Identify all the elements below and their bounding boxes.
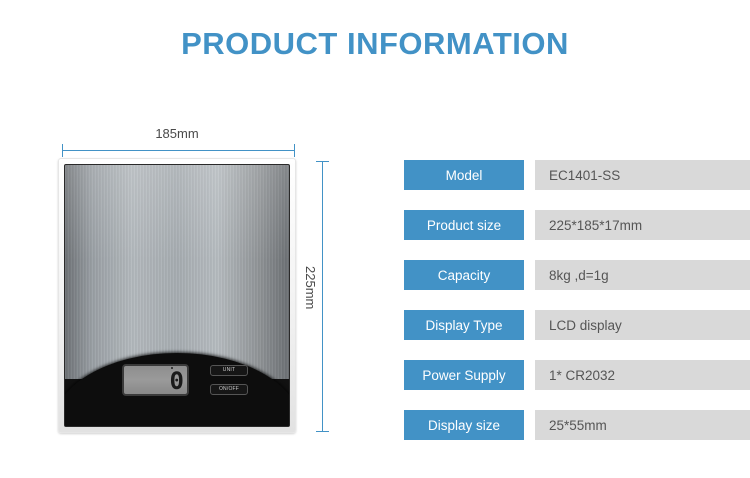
table-row: Display size 25*55mm [404,410,750,440]
width-dimension-tick-left [62,144,63,157]
height-dimension-tick-bottom [316,431,329,432]
spec-value-product-size: 225*185*17mm [535,210,750,240]
spec-label-product-size: Product size [404,210,524,240]
width-dimension-tick-right [294,144,295,157]
spec-value-power-supply: 1* CR2032 [535,360,750,390]
lcd-value: 0 [170,369,183,393]
lcd-screen: 0 [122,364,189,396]
spec-value-model: EC1401-SS [535,160,750,190]
spec-gap [524,360,535,390]
spec-label-display-size: Display size [404,410,524,440]
spec-gap [524,210,535,240]
spec-gap [524,160,535,190]
spec-value-capacity: 8kg ,d=1g [535,260,750,290]
table-row: Capacity 8kg ,d=1g [404,260,750,290]
product-figure: 185mm 225mm 0 UNIT ON/OFF [0,0,390,478]
kitchen-scale-image: 0 UNIT ON/OFF [58,158,296,433]
width-dimension-label: 185mm [58,126,296,141]
table-row: Model EC1401-SS [404,160,750,190]
width-dimension-line [62,150,295,151]
table-row: Display Type LCD display [404,310,750,340]
spec-label-model: Model [404,160,524,190]
table-row: Power Supply 1* CR2032 [404,360,750,390]
spec-value-display-size: 25*55mm [535,410,750,440]
table-row: Product size 225*185*17mm [404,210,750,240]
spec-label-capacity: Capacity [404,260,524,290]
onoff-button[interactable]: ON/OFF [210,384,248,395]
height-dimension-label: 225mm [303,266,318,309]
spec-gap [524,410,535,440]
unit-button[interactable]: UNIT [210,365,248,376]
spec-value-display-type: LCD display [535,310,750,340]
spec-gap [524,310,535,340]
height-dimension-tick-top [316,161,329,162]
scale-platform-surface [65,165,289,379]
spec-label-power-supply: Power Supply [404,360,524,390]
spec-label-display-type: Display Type [404,310,524,340]
specification-table: Model EC1401-SS Product size 225*185*17m… [404,160,750,440]
spec-gap [524,260,535,290]
height-dimension-line [322,161,323,432]
